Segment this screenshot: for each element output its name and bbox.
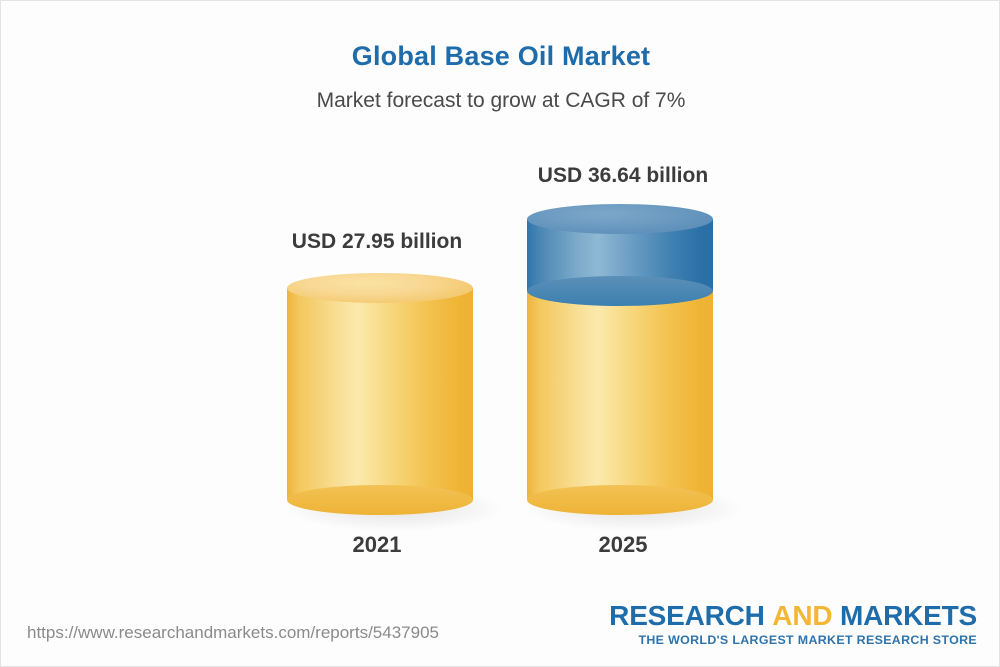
brand-logo-word-markets: MARKETS (840, 600, 977, 631)
bar-2025-segment-base-bottom (527, 485, 713, 515)
brand-logo-word-research: RESEARCH (609, 600, 765, 631)
bar-2025-segment-base-body (527, 291, 713, 500)
bar-2025-value-label: USD 36.64 billion (525, 164, 721, 188)
bar-2025-segment-growth-bottom (527, 276, 713, 306)
bar-2021-value-label: USD 27.95 billion (279, 230, 475, 254)
chart-title: Global Base Oil Market (1, 41, 1000, 72)
bar-2025-segment-growth-top (527, 204, 713, 234)
bar-2025-category-label: 2025 (525, 532, 721, 558)
bar-2021-segment-base-top (287, 273, 473, 303)
brand-logo-tagline: THE WORLD'S LARGEST MARKET RESEARCH STOR… (609, 633, 977, 647)
bar-2021-segment-base-body (287, 288, 473, 500)
bar-2021-segment-base-bottom (287, 485, 473, 515)
brand-logo-wordmark: RESEARCH AND MARKETS (609, 601, 977, 630)
chart-figure: Global Base Oil Market Market forecast t… (0, 0, 1000, 667)
brand-logo-word-and: AND (772, 600, 832, 631)
brand-logo[interactable]: RESEARCH AND MARKETS THE WORLD'S LARGEST… (609, 601, 977, 647)
bar-2021-category-label: 2021 (279, 532, 475, 558)
source-url[interactable]: https://www.researchandmarkets.com/repor… (27, 623, 439, 643)
chart-subtitle: Market forecast to grow at CAGR of 7% (1, 89, 1000, 113)
